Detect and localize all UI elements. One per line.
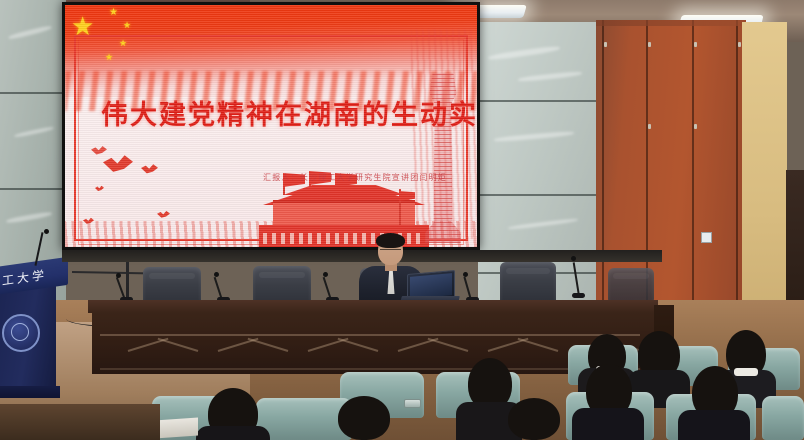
presenter-glasses-icon (380, 249, 401, 255)
slide-title: 伟大建党精神在湖南的生动实践 (101, 93, 453, 132)
podium-base (0, 386, 60, 398)
audience-body (196, 426, 270, 440)
tiananmen-gate-icon (253, 175, 433, 247)
stage-chair (608, 268, 654, 302)
slide-subtitle: 汇报人：长沙理工大学研究生院宣讲团闫明炬 (263, 172, 473, 183)
stage-chair (500, 262, 556, 304)
led-presentation-screen: ★ ★ ★ ★ ★ (62, 2, 480, 250)
presenter-hair (376, 233, 405, 248)
flag-star-icon: ★ (109, 8, 118, 18)
lecture-hall-photo: ★ ★ ★ ★ ★ (0, 0, 804, 440)
table-chevron-ornament (398, 342, 468, 360)
microphone-head-icon (463, 272, 468, 277)
microphone-head-icon (116, 273, 121, 278)
microphone-base (572, 293, 585, 298)
light-switch-plate[interactable] (701, 232, 712, 243)
audience-collar (734, 368, 758, 376)
slide-surface: ★ ★ ★ ★ ★ (65, 5, 477, 247)
podium-microphone-head-icon (44, 229, 49, 234)
university-crest-icon (2, 314, 40, 352)
table-chevron-ornament (308, 342, 378, 360)
microphone-head-icon (571, 256, 576, 261)
seat-number-plate (404, 399, 421, 408)
audience-seat[interactable] (762, 396, 804, 440)
microphone-head-icon (214, 272, 219, 277)
audience-head (338, 396, 390, 440)
table-chevron-ornament (488, 342, 558, 360)
flag-star-icon: ★ (123, 21, 131, 30)
table-chevron-ornament (218, 342, 288, 360)
audience-body (572, 408, 644, 440)
microphone-head-icon (323, 272, 328, 277)
audience-body (678, 410, 750, 440)
front-desk-shadow (0, 404, 160, 440)
audience-head (508, 398, 560, 440)
table-chevron-ornament (128, 342, 198, 360)
